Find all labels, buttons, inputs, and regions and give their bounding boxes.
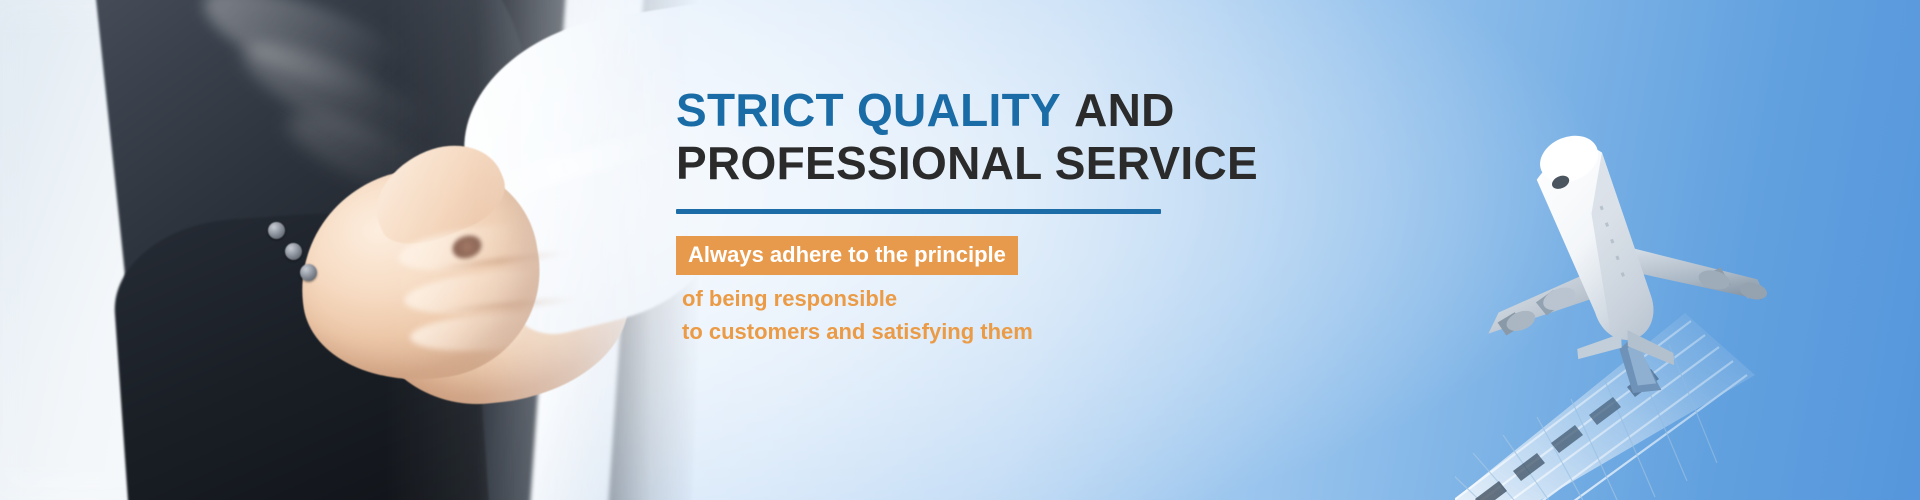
divider-rule (676, 209, 1161, 214)
sleeve-button (300, 264, 317, 281)
headline-dark-text: AND (1074, 84, 1175, 136)
headline-line-1: STRICT QUALITY AND (676, 84, 1376, 137)
headline-blue-text: STRICT QUALITY (676, 84, 1061, 136)
sleeve-button (285, 243, 302, 260)
highlight-row: Always adhere to the principle (676, 236, 1376, 275)
banner-copy: STRICT QUALITY AND PROFESSIONAL SERVICE … (676, 84, 1376, 349)
highlight-badge: Always adhere to the principle (676, 236, 1018, 275)
handshake-photo (0, 0, 700, 500)
airplane-icon (1470, 100, 1830, 400)
subtext-line-2: to customers and satisfying them (682, 315, 1376, 348)
subtext-line-1: of being responsible (682, 282, 1376, 315)
headline-line-2: PROFESSIONAL SERVICE (676, 137, 1376, 190)
sleeve-button (268, 222, 285, 239)
hero-banner: STRICT QUALITY AND PROFESSIONAL SERVICE … (0, 0, 1920, 500)
